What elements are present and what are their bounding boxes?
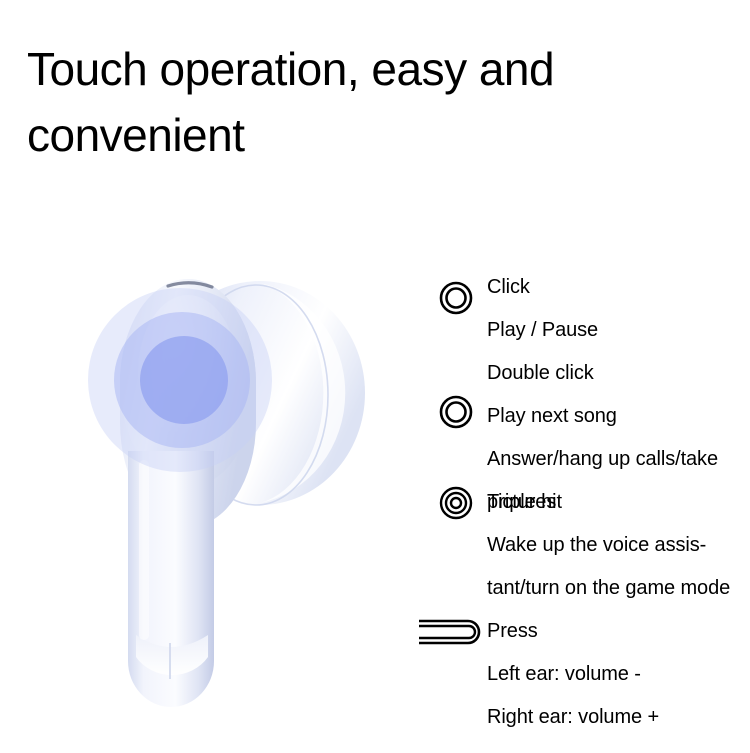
instruction-line: Press [487,610,750,653]
triple-ring-icon [425,486,487,520]
instruction-line: tant/turn on the game mode [487,567,750,610]
touch-ripple-zone [88,288,272,472]
double-ring-icon [425,395,487,429]
instruction-line: Left ear: volume - [487,653,750,696]
press-pill-icon [419,615,481,649]
single-ring-icon [425,281,487,315]
earbud-graphic [60,255,400,725]
instruction-line: Wake up the voice assis- [487,524,750,567]
instruction-line: Click [487,266,750,309]
instruction-line: Triple hit [487,481,750,524]
instruction-lines: Triple hit Wake up the voice assis- tant… [487,481,750,610]
gesture-instruction-list: Click Play / Pause Double click Play nex… [425,266,750,736]
earbud-illustration [60,255,400,725]
page-title: Touch operation, easy and convenient [27,36,727,168]
instruction-lines: Click Play / Pause [487,266,750,352]
instruction-line: Right ear: volume + [487,696,750,739]
instruction-line: Double click [487,352,750,395]
instruction-lines: Press Left ear: volume - Right ear: volu… [487,610,750,739]
instruction-line: Play next song [487,395,750,438]
instruction-line: Answer/hang up calls/take [487,438,750,481]
earbud-stem [128,451,214,707]
instruction-line: Play / Pause [487,309,750,352]
